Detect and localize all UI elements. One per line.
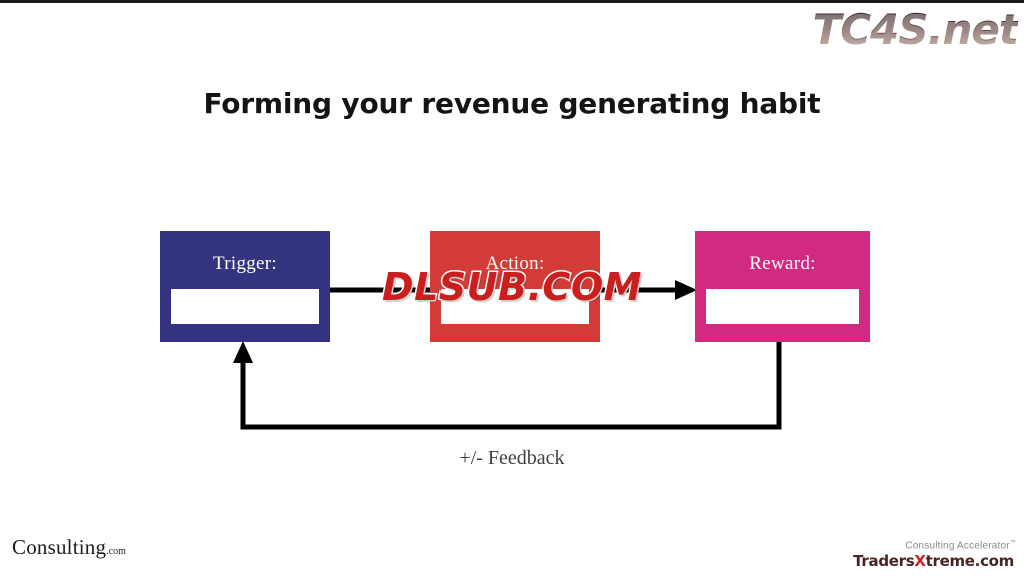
connector-reward-to-trigger	[233, 341, 779, 427]
trademark-symbol: ™	[1010, 540, 1016, 546]
watermark-center: DLSUB.COM	[0, 265, 1024, 309]
watermark-bottom-right: TradersXtreme.com	[853, 552, 1014, 570]
watermark-bottom-right-suffix: treme.com	[926, 552, 1014, 570]
feedback-loop-label: +/- Feedback	[0, 447, 1024, 470]
presentation-slide: Forming your revenue generating habit Tr…	[0, 0, 1024, 576]
watermark-top-right: TC4S.net	[813, 5, 1018, 54]
watermark-bottom-right-accent: X	[914, 552, 925, 570]
brand-logo: Consulting.com	[12, 535, 126, 560]
page-title: Forming your revenue generating habit	[0, 87, 1024, 120]
watermark-bottom-right-prefix: Traders	[853, 552, 914, 570]
accelerator-note-text: Consulting Accelerator	[905, 540, 1009, 551]
accelerator-note: Consulting Accelerator™	[905, 540, 1016, 551]
arrow-up-icon	[233, 341, 253, 363]
brand-logo-tld: .com	[106, 546, 126, 557]
brand-logo-name: Consulting	[12, 535, 106, 559]
